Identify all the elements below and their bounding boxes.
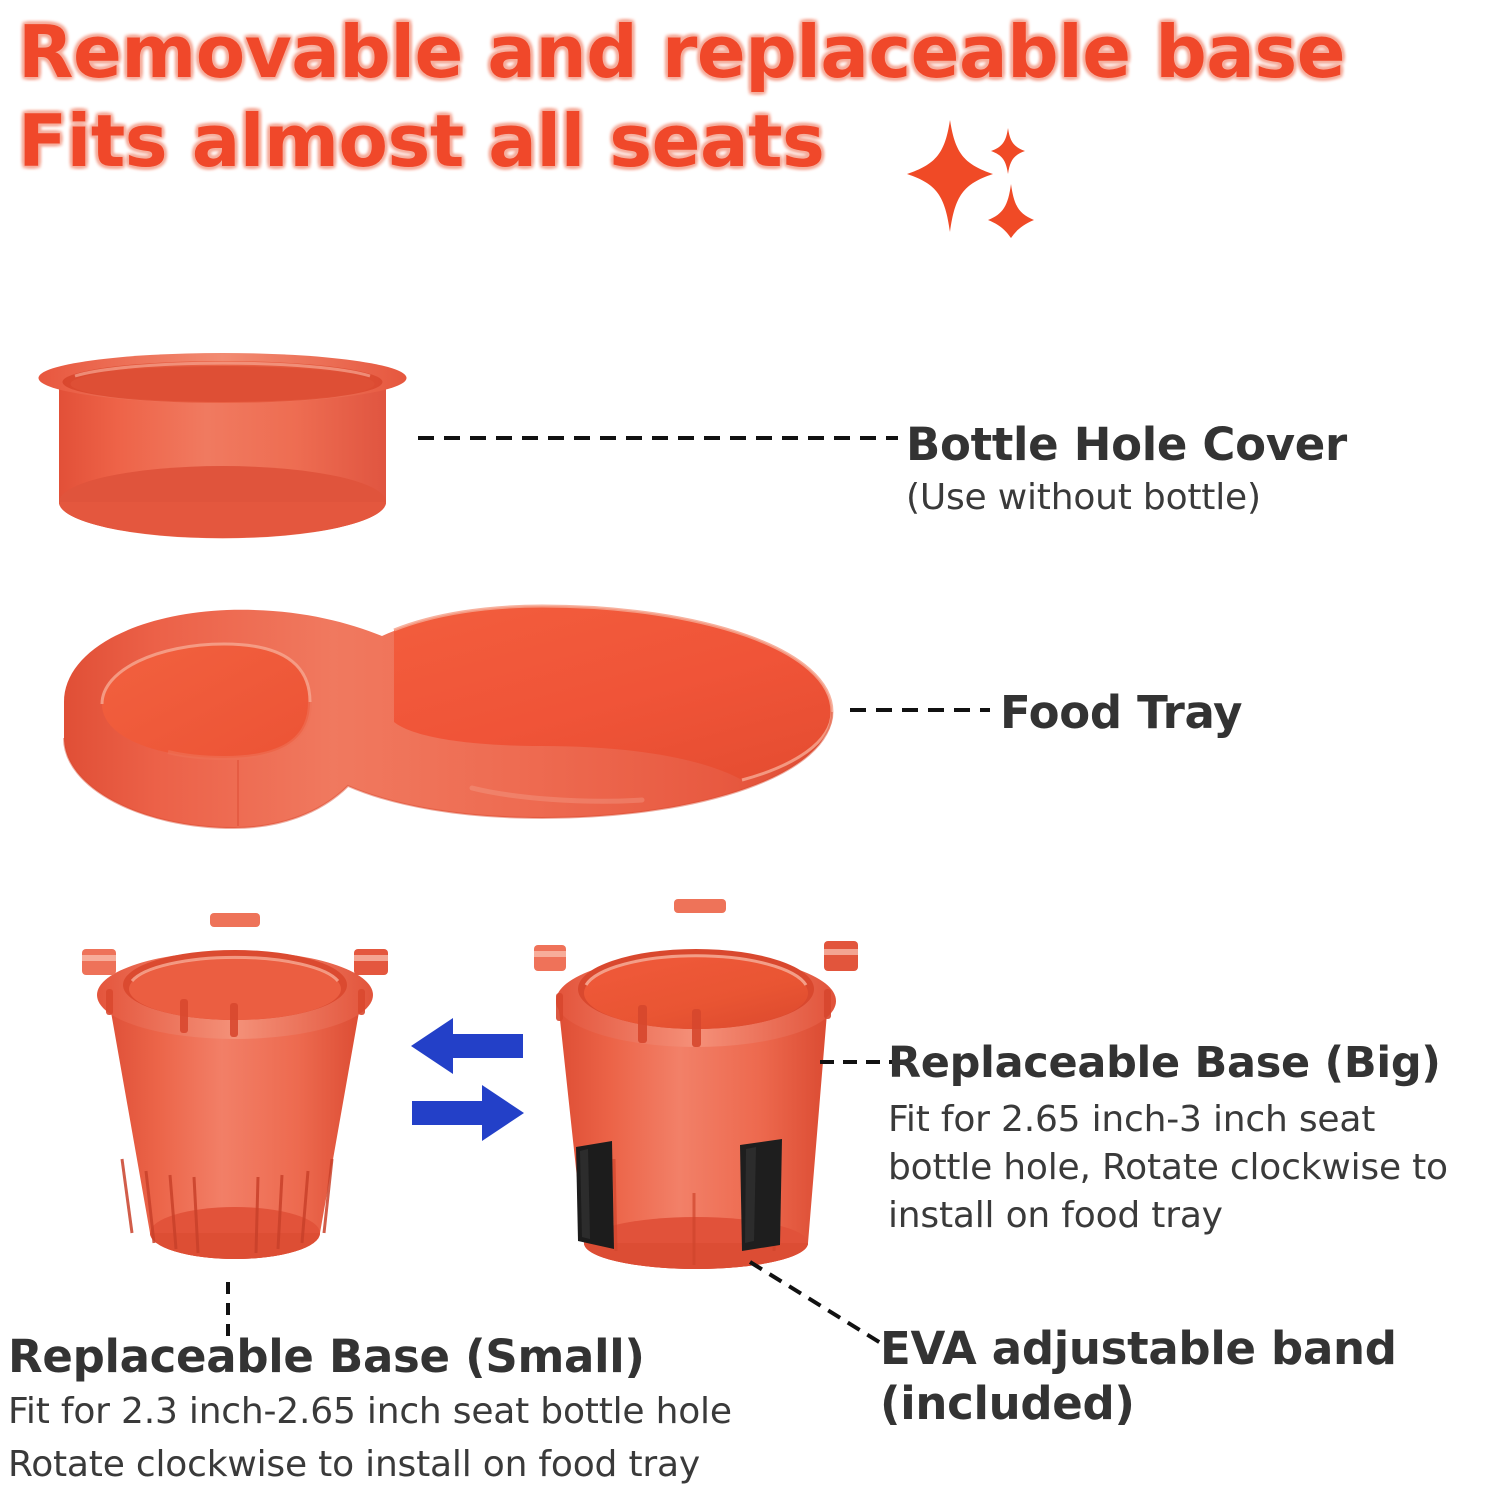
label-base-big: Replaceable Base (Big) Fit for 2.65 inch… [888,1038,1478,1240]
base-small-title: Replaceable Base (Small) [8,1330,828,1383]
label-eva-band: EVA adjustable band (included) [880,1322,1480,1432]
base-big-subtitle: Fit for 2.65 inch-3 inch seat bottle hol… [888,1096,1478,1240]
arrow-left-icon [411,1018,523,1074]
bottle-hole-cover-illustration [35,352,410,557]
leader-line-bottle-hole-cover [418,432,898,444]
arrow-right-icon [412,1085,524,1141]
replaceable-base-small-illustration [70,903,400,1293]
base-small-subtitle-line-2: Rotate clockwise to install on food tray [8,1442,828,1489]
food-tray-illustration [42,592,842,882]
leader-line-food-tray [850,704,990,716]
label-bottle-hole-cover: Bottle Hole Cover (Use without bottle) [906,418,1347,518]
eva-band-title: EVA adjustable band (included) [880,1322,1480,1432]
replaceable-base-big-illustration [528,893,868,1293]
food-tray-title: Food Tray [1000,686,1242,739]
headline-line-1: Removable and replaceable base [18,8,1478,97]
leader-line-base-big [820,1056,892,1068]
label-food-tray: Food Tray [1000,686,1242,739]
bottle-hole-cover-subtitle: (Use without bottle) [906,477,1347,518]
infographic-page: Removable and replaceable base Fits almo… [0,0,1491,1500]
label-base-small: Replaceable Base (Small) Fit for 2.3 inc… [8,1330,828,1489]
base-small-subtitle-line-1: Fit for 2.3 inch-2.65 inch seat bottle h… [8,1389,828,1436]
sparkle-icon [905,112,1035,242]
headline-line-2: Fits almost all seats [18,97,1478,186]
base-big-title: Replaceable Base (Big) [888,1038,1478,1088]
bottle-hole-cover-title: Bottle Hole Cover [906,418,1347,471]
swap-arrows [405,1012,530,1147]
headline-block: Removable and replaceable base Fits almo… [18,8,1478,187]
